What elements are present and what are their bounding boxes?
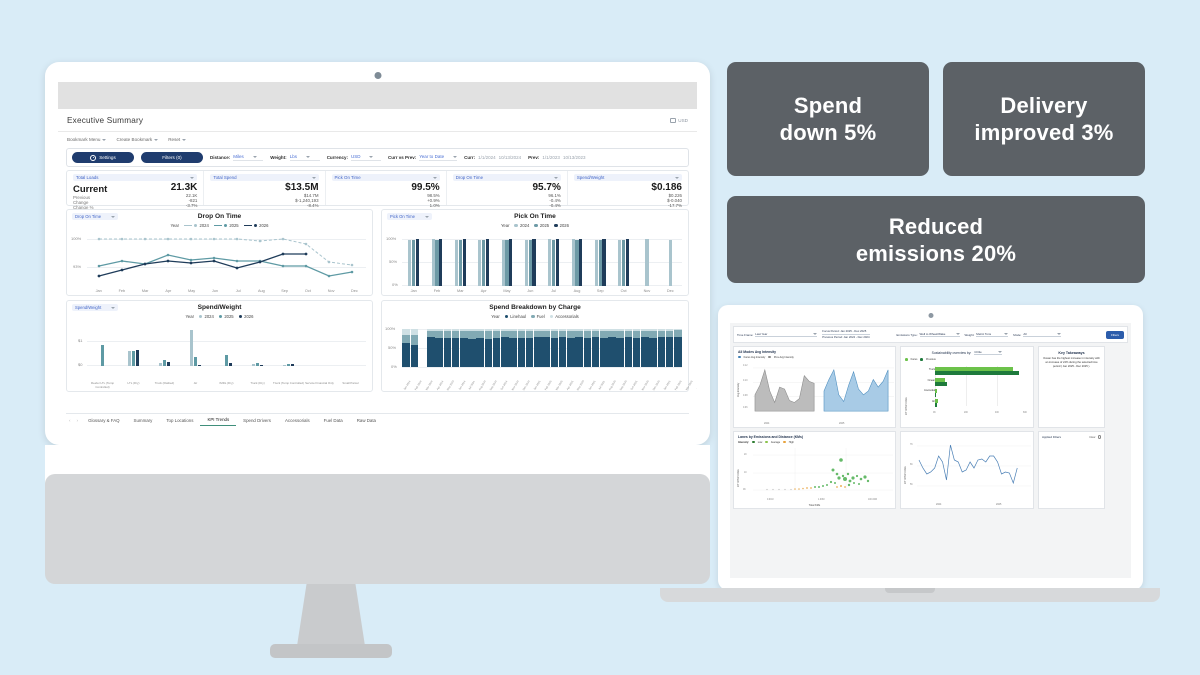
stacked-bar <box>476 329 484 367</box>
kpi-selector[interactable]: Total Spend <box>210 174 318 181</box>
chevron-down-icon <box>253 156 257 158</box>
prev-end-date[interactable]: 10/13/2023 <box>563 155 586 160</box>
stacked-bar <box>592 329 600 367</box>
bar-group <box>118 350 149 366</box>
mode-filter[interactable]: Mode: All <box>1013 332 1061 337</box>
legend-item-2025[interactable]: 2025 <box>534 223 549 228</box>
currency-badge[interactable]: USD <box>670 118 688 123</box>
legend-label: High <box>789 441 794 444</box>
legend-item-focus[interactable]: Focus Avg Intensity <box>738 356 765 359</box>
kpi-current-value: $0.186 <box>574 182 682 193</box>
chart-metric-value: Drop On Time <box>75 214 101 219</box>
currency-select[interactable]: USD <box>351 154 381 161</box>
chart-plot-area: 100% 50% 0% Jan 2024Feb 2024Mar 2024Apr … <box>382 321 688 391</box>
x-tick-label: Feb 2024 <box>414 380 422 391</box>
stacked-bar-segment <box>600 331 608 338</box>
stacked-bar-segment <box>493 338 501 367</box>
stacked-bar <box>460 329 468 367</box>
chart-card-drop-on-time: Drop On Time Drop On Time Year 2024 <box>66 209 373 296</box>
legend-item-high[interactable]: High <box>783 441 794 444</box>
previous-period-label: Previous Period: Jan 2024 - Dec 2024 <box>822 335 869 340</box>
applied-filters-title: Applied Filters <box>1042 435 1061 439</box>
kpi-card-total-loads: Total Loads Current Previous Change Chan… <box>67 171 203 205</box>
callout-line-1: Delivery <box>974 92 1113 119</box>
y-axis-title: mT WTW CO2e <box>905 397 908 415</box>
currency-filter[interactable]: Currency: USD <box>327 154 381 161</box>
stacked-bar-segment <box>468 331 476 339</box>
x-group-label-2024: 2024 <box>936 503 941 506</box>
kpi-name: Total Spend <box>213 175 236 180</box>
stacked-bar-segment <box>534 337 542 367</box>
stacked-bar <box>641 329 649 367</box>
chart-metric-select[interactable]: Spend/Weight <box>72 304 118 311</box>
x-group-label-2024: 2024 <box>764 422 769 425</box>
applied-filters-panel: Applied Filters Clear <box>1038 431 1105 509</box>
x-tick-label: Jan 2025 <box>533 380 541 391</box>
y-axis-title: mT WTW CO2e <box>737 469 740 487</box>
chart-title: All Modes Avg Intensity <box>738 350 891 354</box>
stacked-bar-segment <box>526 331 534 338</box>
stacked-bar-segment <box>485 339 493 367</box>
kpi-selector[interactable]: Drop On Time <box>453 174 561 181</box>
legend-item-2026[interactable]: 2026 <box>239 314 254 319</box>
stacked-bar-segment <box>493 331 501 338</box>
emissions-type-value: Well to Wheel/Wake <box>920 332 946 336</box>
bar-group <box>425 239 448 286</box>
monitor-screen: Executive Summary USD Bookmark Menu Crea… <box>58 82 697 433</box>
legend-label: 2026 <box>244 314 253 319</box>
laptop-lid: Time Frame: Last Year Focus Period: Jan … <box>718 305 1143 590</box>
emissions-type-select[interactable]: Well to Wheel/Wake <box>920 332 960 337</box>
stacked-bar <box>567 329 575 367</box>
stacked-bar-segment <box>411 335 419 345</box>
legend-title: Year <box>491 314 499 319</box>
monitor-bezel: Executive Summary USD Bookmark Menu Crea… <box>45 62 710 445</box>
x-tick-label: Sep <box>273 289 296 293</box>
clear-filters-label: Clear <box>1089 436 1095 439</box>
x-tick-label: Jul 2024 <box>468 381 476 391</box>
weight-filter[interactable]: Weight: Lbs <box>270 154 319 161</box>
weight-select[interactable]: Metric Tons <box>976 332 1008 337</box>
line-series-svg <box>917 442 1031 490</box>
kpi-row-label-current: Current <box>73 185 107 195</box>
stacked-bar-segment <box>509 331 517 338</box>
bar-group <box>519 239 542 286</box>
legend-item-focus[interactable]: Focus <box>905 358 917 361</box>
x-tick-label: Sep 2024 <box>490 380 498 391</box>
bar-group <box>589 239 612 286</box>
x-tick-label: 0.01M <box>767 499 773 501</box>
y-tick-label: $0 <box>78 362 82 367</box>
legend-item-2026[interactable]: 2026 <box>244 223 269 228</box>
legend-label: Focus Avg Intensity <box>744 356 766 359</box>
legend-item-2024[interactable]: 2024 <box>199 314 214 319</box>
tab-fuel-data[interactable]: Fuel Data <box>317 415 350 426</box>
stacked-bar-segment <box>542 337 550 367</box>
chart-title: Spend Breakdown by Charge <box>382 304 688 311</box>
chart-card-all-modes-avg-intensity: All Modes Avg Intensity Focus Avg Intens… <box>733 346 896 428</box>
legend-item-previous[interactable]: Previous <box>920 358 935 361</box>
filters-button[interactable]: Filters (0) <box>141 152 203 163</box>
callout-card-emissions: Reduced emissions 20% <box>727 196 1145 283</box>
desktop-monitor: Executive Summary USD Bookmark Menu Crea… <box>45 62 710 522</box>
bar-group <box>542 239 565 286</box>
x-tick-label: May 2024 <box>447 380 456 391</box>
tab-raw-data[interactable]: Raw Data <box>350 415 383 426</box>
chart-card-spend-breakdown: Spend Breakdown by Charge Year Linehaul … <box>381 300 689 392</box>
x-axis-labels: Jan 2024Feb 2024Mar 2024Apr 2024May 2024… <box>402 384 682 387</box>
category-label-intermodal: Intermodal <box>911 390 935 392</box>
chart-title: Lanes by Emissions and Distance (KMs) <box>738 435 891 439</box>
create-bookmark-label: Create Bookmark <box>116 137 152 142</box>
currency-badge-label: USD <box>678 118 688 123</box>
y-tick-label: 93% <box>73 264 81 269</box>
stacked-bar-segment <box>501 337 509 367</box>
kpi-selector[interactable]: Total Loads <box>73 174 197 181</box>
legend-label: 2026 <box>560 223 569 228</box>
bookmark-menu-item[interactable]: Bookmark Menu <box>67 137 106 142</box>
filters-button-label: Filters (0) <box>162 155 181 160</box>
scatter-series-svg <box>753 448 893 496</box>
stacked-bar-segment <box>460 338 468 367</box>
kpi-values: 99.5% 98.5% +0.9% 1.0% <box>332 181 440 209</box>
kpi-selector[interactable]: Spend/Weight <box>574 174 682 181</box>
kpi-change-pct-value: -17.7% <box>574 203 682 208</box>
legend-label: 2024 <box>520 223 529 228</box>
y-tick-label: 0% <box>391 364 397 369</box>
stacked-bar-segment <box>476 331 484 338</box>
chart-legend: Focus Avg Intensity Prev Avg Intensity <box>738 356 891 359</box>
legend-item-prev[interactable]: Prev Avg Intensity <box>768 356 794 359</box>
legend-item-2024[interactable]: 2024 <box>514 223 529 228</box>
prev-start-date[interactable]: 1/1/2023 <box>542 155 560 160</box>
time-frame-select[interactable]: Last Year <box>755 332 817 337</box>
y-tick-label: 0.06 <box>743 407 747 409</box>
key-takeaways-panel: Key Takeaways Ocean has the highest incr… <box>1038 346 1105 428</box>
chart-title: Sustainability overview by: <box>932 351 972 355</box>
stacked-bar-segment <box>468 339 476 368</box>
stacked-bar-segment <box>427 337 435 367</box>
stacked-bar <box>452 329 460 367</box>
prev-label: Prev: <box>528 155 539 160</box>
kpi-name: Total Loads <box>76 175 98 180</box>
kpi-change-pct-value: 1.0% <box>332 203 440 208</box>
legend-item-2025[interactable]: 2025 <box>214 223 239 228</box>
reset-item[interactable]: Reset <box>168 137 186 142</box>
browser-chrome-bar <box>58 82 697 109</box>
kpi-card-spend-weight: Spend/Weight $0.186 $0.226 $-0.040 -17.7… <box>567 171 688 205</box>
distance-select[interactable]: Miles <box>233 154 263 161</box>
tab-glossary-faq[interactable]: Glossary & FAQ <box>81 415 126 426</box>
key-takeaways-body: Ocean has the highest increase in intens… <box>1039 355 1104 371</box>
stacked-bar-segment <box>633 338 641 367</box>
stacked-bar <box>468 329 476 367</box>
distance-filter[interactable]: Distance: Miles <box>210 154 263 161</box>
callout-card-delivery: Delivery improved 3% <box>943 62 1145 176</box>
x-tick-label: Mar <box>449 289 472 293</box>
stacked-bar <box>616 329 624 367</box>
legend-item-linehaul[interactable]: Linehaul <box>505 314 526 319</box>
x-tick-label: Jun 2024 <box>458 380 466 391</box>
area-series-svg <box>753 366 894 414</box>
x-tick-label: Truck (Dry) <box>242 382 273 389</box>
x-tick-label: Jun <box>519 289 542 293</box>
chevron-down-icon <box>306 156 310 158</box>
stacked-bar-segment <box>452 331 460 338</box>
x-tick-label: Oct 2025 <box>631 380 639 391</box>
stacked-bar <box>493 329 501 367</box>
curr-end-date[interactable]: 10/13/2024 <box>499 155 522 160</box>
x-tick-label: Small Parcel <box>335 382 366 389</box>
stacked-bar-segment <box>551 338 559 367</box>
chevron-down-icon <box>425 216 429 218</box>
app-header: Executive Summary USD <box>58 109 697 132</box>
kpi-name: Spend/Weight <box>577 175 605 180</box>
chevron-down-icon <box>675 177 679 179</box>
stacked-bar-segment <box>427 331 435 338</box>
x-tick-label: Oct 2024 <box>500 380 508 391</box>
monitor-base <box>45 474 710 584</box>
chart-metric-value: Pick On Time <box>390 214 415 219</box>
x-tick-label: Sep <box>589 289 612 293</box>
kpi-selector[interactable]: Pick On Time <box>332 174 440 181</box>
bar-group <box>472 239 495 286</box>
legend-label: 2026 <box>259 223 268 228</box>
x-axis-labels: Jan Feb Mar Apr May Jun Jul Aug Sep Oct … <box>402 289 682 293</box>
stacked-bar <box>509 329 517 367</box>
y-tick-label: 100% <box>386 236 396 241</box>
legend-item-2024[interactable]: 2024 <box>184 223 209 228</box>
curr-start-date[interactable]: 1/1/2024 <box>478 155 496 160</box>
x-tick-label: Service Financial Only <box>304 382 335 389</box>
legend-item-accessorials[interactable]: Accessorials <box>550 314 579 319</box>
chevron-down-icon <box>111 216 115 218</box>
stacked-bar-segment <box>402 335 410 343</box>
stacked-bar-segment <box>559 337 567 367</box>
monitor-stand-foot <box>270 644 392 658</box>
legend-label: 2025 <box>540 223 549 228</box>
x-tick-label: Mar <box>134 289 157 293</box>
legend-label: Linehaul <box>510 314 526 319</box>
bar-series <box>402 239 682 286</box>
stacked-bar <box>600 329 608 367</box>
stacked-bar-segment <box>575 331 583 338</box>
chevron-down-icon <box>1057 333 1061 335</box>
bar-group <box>87 345 118 366</box>
tab-spend-drivers[interactable]: Spend Drivers <box>236 415 278 426</box>
stacked-bar <box>608 329 616 367</box>
legend-title: Year <box>501 223 509 228</box>
mode-select[interactable]: All <box>1023 332 1061 337</box>
stacked-bar-segment <box>649 331 657 338</box>
tab-top-locations[interactable]: Top Locations <box>159 415 200 426</box>
legend-item-low[interactable]: Low <box>752 441 762 444</box>
kpi-card-pick-on-time: Pick On Time 99.5% 98.5% +0.9% 1.0% <box>325 171 446 205</box>
x-tick-label: Apr <box>157 289 180 293</box>
x-tick-label: Mar 2024 <box>425 380 433 391</box>
compare-select[interactable]: Year to Date <box>419 154 457 161</box>
bar-group <box>211 355 242 367</box>
stacked-bar-segment <box>592 337 600 367</box>
y-axis-title: Avg Intensity <box>737 383 740 397</box>
stacked-bar-series <box>402 329 682 367</box>
chevron-down-icon <box>433 177 437 179</box>
x-tick-label: Jun 2025 <box>588 380 596 391</box>
stacked-bar-segment <box>402 343 410 367</box>
y-tick-label: 7K <box>910 444 913 446</box>
kpi-card-drop-on-time: Drop On Time 95.7% 96.1% -0.4% -0.4% <box>446 171 567 205</box>
kpi-current-value: $13.5M <box>210 182 318 193</box>
stacked-bar <box>534 329 542 367</box>
stacked-bar-segment <box>435 331 443 338</box>
chart-metric-select[interactable]: Drop On Time <box>72 213 118 220</box>
x-group-label-2025: 2025 <box>839 422 844 425</box>
stacked-bar-segment <box>575 337 583 367</box>
x-tick-label: Nov <box>635 289 658 293</box>
tabs-next-arrow[interactable]: › <box>74 418 82 423</box>
stacked-bar-segment <box>608 337 616 367</box>
y-tick-label: 0K <box>743 489 746 491</box>
laptop-base-notch <box>885 588 935 593</box>
x-tick-label: Jan 2024 <box>403 380 411 391</box>
chart-metric-select[interactable]: Pick On Time <box>387 213 432 220</box>
filters-button[interactable]: Filters <box>1106 331 1124 339</box>
clear-filters-button[interactable]: Clear <box>1089 435 1101 439</box>
kpi-change-pct-value: -8.4% <box>210 203 318 208</box>
legend-item-2026[interactable]: 2026 <box>554 223 569 228</box>
bookmark-menu-label: Bookmark Menu <box>67 137 100 142</box>
legend-label: 2024 <box>199 223 208 228</box>
stacked-bar <box>444 329 452 367</box>
x-tick-label: Mar 2025 <box>555 380 563 391</box>
stacked-bar-segment <box>649 338 657 367</box>
legend-item-average[interactable]: Average <box>765 441 780 444</box>
x-tick-label: 100.00M <box>868 499 877 501</box>
stacked-bar <box>584 329 592 367</box>
chevron-down-icon <box>312 177 316 179</box>
stacked-bar <box>411 329 419 367</box>
callout-line-1: Spend <box>780 92 877 119</box>
legend-label: 2025 <box>229 223 238 228</box>
x-axis-labels: Reefer LTL (Temp Controlled) LTL (Dry) T… <box>87 382 366 389</box>
chart-plot-area: 100% 50% 0% <box>382 230 688 295</box>
x-tick-label: Nov <box>320 289 343 293</box>
chevron-down-icon <box>453 156 457 158</box>
category-label-truck: Truck <box>911 368 935 371</box>
stacked-bar <box>485 329 493 367</box>
tab-summary[interactable]: Summary <box>127 415 160 426</box>
x-tick-label: Jul <box>227 289 250 293</box>
stacked-bar-segment <box>616 331 624 338</box>
legend-label: Focus <box>911 358 918 361</box>
x-tick-label: 1.00M <box>818 499 824 501</box>
bar-group <box>449 239 472 286</box>
laptop-device: Time Frame: Last Year Focus Period: Jan … <box>660 305 1160 610</box>
dashboard-tabs: ‹ › Glossary & FAQ Summary Top Locations… <box>66 413 689 426</box>
mode-value: All <box>1023 332 1026 336</box>
emissions-type-filter[interactable]: Emissions Type: Well to Wheel/Wake <box>897 332 960 337</box>
stacked-bar <box>633 329 641 367</box>
tabs-prev-arrow[interactable]: ‹ <box>66 418 74 423</box>
stacked-bar-segment <box>592 331 600 338</box>
chart-legend: Year 2024 2025 2026 <box>382 223 688 228</box>
x-tick-label: Aug <box>250 289 273 293</box>
weight-filter[interactable]: Weight: Metric Tons <box>965 332 1009 337</box>
stacked-bar-segment <box>534 331 542 338</box>
settings-button[interactable]: Settings <box>72 152 134 163</box>
x-tick-label: Jan <box>402 289 425 293</box>
chart-legend: Focus Previous <box>905 358 936 361</box>
x-tick-label: LTL (Dry) <box>118 382 149 389</box>
chart-plot-area: 100% 93% <box>67 230 372 295</box>
legend-item-2025[interactable]: 2025 <box>219 314 234 319</box>
legend-label: Average <box>771 441 780 444</box>
chart-legend: Year 2024 2025 2026 <box>67 314 372 319</box>
y-tick-label: 10 <box>744 472 747 474</box>
y-tick-label: 100% <box>385 326 395 331</box>
tab-accessorials[interactable]: Accessorials <box>278 415 317 426</box>
bar-group <box>180 330 211 366</box>
stacked-bar-segment <box>444 338 452 367</box>
x-tick-label: Sep 2025 <box>620 380 628 391</box>
x-tick-label: Nov 2025 <box>641 380 649 391</box>
reset-label: Reset <box>168 137 180 142</box>
callout-line-2: down 5% <box>780 119 877 146</box>
stacked-bar-segment <box>600 338 608 367</box>
category-label-ocean: Ocean <box>911 379 935 382</box>
stacked-bar <box>435 329 443 367</box>
tab-kpi-trends[interactable]: KPI Trends <box>200 414 236 426</box>
overview-metric-select[interactable]: CO2e <box>974 350 1002 355</box>
y-tick-label: 20 <box>744 454 747 456</box>
y-tick-label: 50% <box>389 259 397 264</box>
x-tick-label: Apr 2025 <box>566 380 574 391</box>
stacked-bar-segment <box>625 331 633 338</box>
kpi-change-pct-value: -0.4% <box>453 203 561 208</box>
y-tick-label: 0.10 <box>743 380 747 382</box>
x-tick-label: Air <box>180 382 211 389</box>
weight-label: Weight: <box>965 333 975 337</box>
stacked-bar-segment <box>501 331 509 338</box>
x-tick-label: Reefer LTL (Temp Controlled) <box>87 382 118 389</box>
compare-label: Curr vs Prev: <box>388 155 416 160</box>
x-tick-label: Apr 2024 <box>436 380 444 391</box>
x-tick-label: May <box>495 289 518 293</box>
stacked-bar <box>575 329 583 367</box>
x-tick-label: 0K <box>933 412 936 414</box>
hbar-plot: Truck Ocean Intermodal Air 0K 20 <box>911 366 1029 414</box>
x-tick-label: Feb <box>110 289 133 293</box>
create-bookmark-item[interactable]: Create Bookmark <box>116 137 158 142</box>
weight-select[interactable]: Lbs <box>290 154 320 161</box>
bar-group <box>565 239 588 286</box>
key-takeaways-title: Key Takeaways <box>1039 347 1104 355</box>
time-frame-filter[interactable]: Time Frame: Last Year <box>737 332 817 337</box>
x-tick-label: Jan <box>87 289 110 293</box>
x-tick-label: Nov 2024 <box>511 380 519 391</box>
stacked-bar-segment <box>476 338 484 367</box>
stacked-bar-segment <box>435 338 443 367</box>
compare-filter[interactable]: Curr vs Prev: Year to Date <box>388 154 457 161</box>
stacked-bar-segment <box>616 338 624 367</box>
legend-item-fuel[interactable]: Fuel <box>531 314 545 319</box>
x-tick-label: Feb 2025 <box>544 380 552 391</box>
chevron-down-icon <box>154 139 158 141</box>
callout-line-1: Reduced <box>856 213 1016 240</box>
chevron-down-icon <box>998 351 1002 353</box>
kpi-current-value: 99.5% <box>332 182 440 193</box>
legend-label: Accessorials <box>555 314 579 319</box>
